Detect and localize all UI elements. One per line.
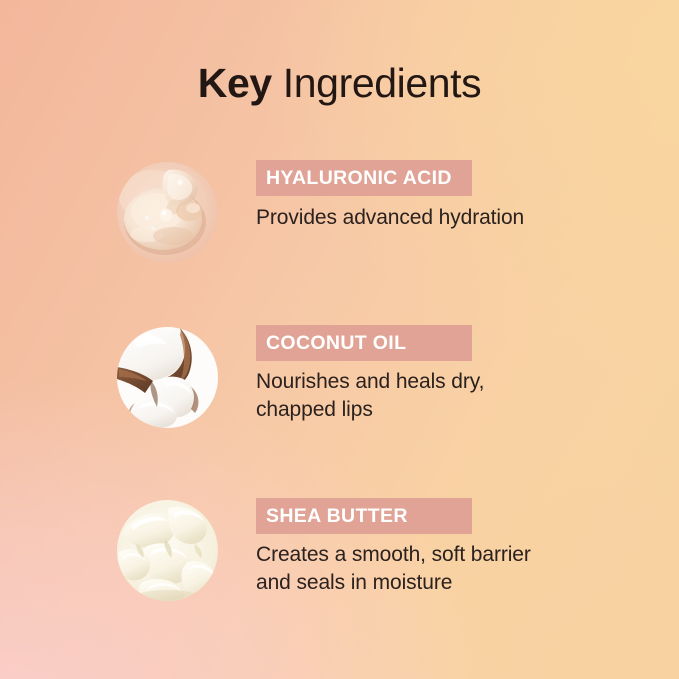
content-area: Key Ingredients xyxy=(0,0,679,679)
ingredient-row: HYALURONIC ACID Provides advanced hydrat… xyxy=(0,160,679,280)
ingredient-text: HYALURONIC ACID Provides advanced hydrat… xyxy=(256,160,524,232)
ingredient-row: COCONUT OIL Nourishes and heals dry, cha… xyxy=(0,325,679,445)
ingredient-name-badge: COCONUT OIL xyxy=(256,325,472,361)
ingredient-description: Nourishes and heals dry, chapped lips xyxy=(256,368,484,424)
page-title-light: Ingredients xyxy=(272,60,481,106)
key-ingredients-infographic: Key Ingredients xyxy=(0,0,679,679)
ingredient-description: Creates a smooth, soft barrier and seals… xyxy=(256,541,531,597)
shea-butter-chunks-photo xyxy=(117,500,218,601)
page-title: Key Ingredients xyxy=(0,58,679,108)
hyaluronic-acid-gel-droplet-photo xyxy=(117,162,218,263)
ingredient-text: COCONUT OIL Nourishes and heals dry, cha… xyxy=(256,325,484,424)
ingredient-text: SHEA BUTTER Creates a smooth, soft barri… xyxy=(256,498,531,597)
ingredient-name-badge: HYALURONIC ACID xyxy=(256,160,472,196)
ingredient-row: SHEA BUTTER Creates a smooth, soft barri… xyxy=(0,498,679,618)
coconut-pieces-photo xyxy=(117,327,218,428)
page-title-strong: Key xyxy=(198,60,272,106)
ingredient-description: Provides advanced hydration xyxy=(256,204,524,232)
ingredient-name-badge: SHEA BUTTER xyxy=(256,498,472,534)
